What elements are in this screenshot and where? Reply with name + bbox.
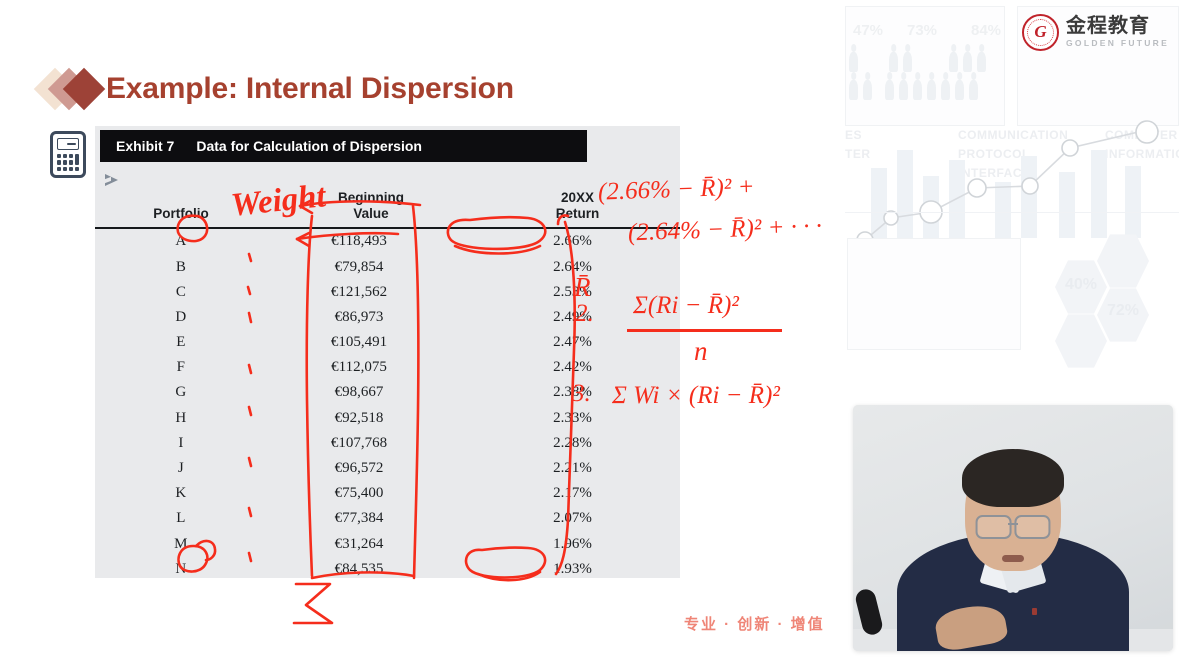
calculator-key xyxy=(57,154,61,158)
cell-beginning-value: €92,518 xyxy=(267,406,475,431)
cell-beginning-value: €77,384 xyxy=(267,506,475,531)
table-row: J€96,5722.21% xyxy=(95,456,680,481)
ink-step2-number: 2. xyxy=(575,300,594,328)
ink-formula-line2: (2.64% − R̄)² + · · · xyxy=(628,213,823,248)
cell-portfolio: M xyxy=(95,531,267,556)
table-header-row: Portfolio Beginning Value 20XX Return xyxy=(95,190,680,225)
table-row: N€84,5351.93% xyxy=(95,557,680,582)
bg-person-icon xyxy=(849,52,858,72)
cell-portfolio: B xyxy=(95,254,267,279)
cell-beginning-value: €112,075 xyxy=(267,355,475,380)
bg-person-icon xyxy=(963,52,972,72)
table-row: H€92,5182.33% xyxy=(95,406,680,431)
table-row: A€118,4932.66% xyxy=(95,228,680,254)
ink-formula-line1: (2.66% − R̄)² + xyxy=(598,173,755,206)
logo-monogram: G xyxy=(1024,16,1057,49)
logo-english-name: GOLDEN FUTURE xyxy=(1066,39,1169,48)
cell-portfolio: F xyxy=(95,355,267,380)
cell-portfolio: I xyxy=(95,431,267,456)
cell-beginning-value: €118,493 xyxy=(267,228,475,254)
video-glasses-bridge xyxy=(1008,523,1018,525)
table-row: K€75,4002.17% xyxy=(95,481,680,506)
column-header-beginning-line2: Value xyxy=(353,206,388,221)
bg-percent-0: 47% xyxy=(853,22,883,39)
calculator-key xyxy=(63,160,67,164)
bg-person-icon xyxy=(863,80,872,100)
video-glasses-right-lens xyxy=(1014,515,1050,539)
footer-slogan: 专业 · 创新 · 增值 xyxy=(684,613,825,634)
cell-beginning-value: €96,572 xyxy=(267,456,475,481)
cell-beginning-value: €31,264 xyxy=(267,531,475,556)
cell-portfolio: A xyxy=(95,228,267,254)
exhibit-caption: Data for Calculation of Dispersion xyxy=(196,138,422,154)
slide-title-row: Example: Internal Dispersion xyxy=(40,68,514,110)
cell-beginning-value: €105,491 xyxy=(267,330,475,355)
calculator-icon xyxy=(50,131,86,178)
table-row: L€77,3842.07% xyxy=(95,506,680,531)
ink-step3-expression: Σ Wi × (Ri − R̄)² xyxy=(612,382,780,410)
calculator-screen xyxy=(57,138,79,150)
cell-portfolio: D xyxy=(95,305,267,330)
ink-step3-number: 3. xyxy=(572,380,591,408)
calculator-key xyxy=(75,154,79,165)
bg-person-icon xyxy=(955,80,964,100)
bg-person-icon xyxy=(899,80,908,100)
bg-person-icon xyxy=(949,52,958,72)
cell-beginning-value: €107,768 xyxy=(267,431,475,456)
table-head: Portfolio Beginning Value 20XX Return xyxy=(95,166,680,228)
bg-person-icon xyxy=(849,80,858,100)
exhibit-number: Exhibit 7 xyxy=(116,138,174,154)
table-row: G€98,6672.38% xyxy=(95,380,680,405)
column-header-return-line2: Return xyxy=(556,206,600,221)
cell-return: 1.96% xyxy=(475,531,680,556)
calculator-key xyxy=(75,167,79,171)
calculator-key xyxy=(63,167,67,171)
cell-portfolio: C xyxy=(95,280,267,305)
cell-beginning-value: €98,667 xyxy=(267,380,475,405)
ink-sigma-bottom xyxy=(294,584,332,623)
bg-hexagon xyxy=(1055,312,1107,370)
bg-person-icon xyxy=(941,80,950,100)
bg-person-icon xyxy=(913,80,922,100)
calculator-key xyxy=(63,154,67,158)
background-infographic: 47% 73% 84% ES TER COMMUNICATION PROTOCO… xyxy=(845,0,1179,410)
logo-chinese-name: 金程教育 xyxy=(1066,16,1169,36)
cell-return: 2.28% xyxy=(475,431,680,456)
bg-person-icon xyxy=(889,52,898,72)
bg-hex-percent-1: 72% xyxy=(1107,302,1139,320)
table-row: E€105,4912.47% xyxy=(95,330,680,355)
exhibit-panel: Exhibit 7 Data for Calculation of Disper… xyxy=(95,126,680,578)
cell-return: 2.42% xyxy=(475,355,680,380)
calculator-key xyxy=(57,167,61,171)
bg-hex-percent-0: 40% xyxy=(1065,276,1097,294)
cell-return: 1.93% xyxy=(475,557,680,582)
exhibit-header-bar: Exhibit 7 Data for Calculation of Disper… xyxy=(100,130,587,162)
table-body: A€118,4932.66%B€79,8542.64%C€121,5622.53… xyxy=(95,228,680,582)
column-header-return-line1: 20XX xyxy=(561,190,594,205)
table-header-spacer xyxy=(95,166,680,190)
cell-portfolio: H xyxy=(95,406,267,431)
calculator-key xyxy=(69,167,73,171)
calculator-key xyxy=(57,160,61,164)
bg-person-icon xyxy=(977,52,986,72)
column-header-portfolio-label: Portfolio xyxy=(153,206,209,221)
cell-return: 2.17% xyxy=(475,481,680,506)
bg-percent-1: 73% xyxy=(907,22,937,39)
table-row: I€107,7682.28% xyxy=(95,431,680,456)
cell-beginning-value: €75,400 xyxy=(267,481,475,506)
cell-portfolio: E xyxy=(95,330,267,355)
presentation-slide: 47% 73% 84% ES TER COMMUNICATION PROTOCO… xyxy=(0,0,1179,663)
calculator-key xyxy=(69,154,73,158)
page-title: Example: Internal Dispersion xyxy=(106,72,514,106)
bg-divider xyxy=(845,212,1179,213)
instructor-video-panel[interactable] xyxy=(853,405,1173,651)
cell-beginning-value: €86,973 xyxy=(267,305,475,330)
cell-portfolio: L xyxy=(95,506,267,531)
table-row: M€31,2641.96% xyxy=(95,531,680,556)
cell-portfolio: K xyxy=(95,481,267,506)
ink-step2-numerator: Σ(Ri − R̄)² xyxy=(633,292,739,320)
brand-logo: G 金程教育 GOLDEN FUTURE xyxy=(1022,12,1172,52)
cell-return: 2.07% xyxy=(475,506,680,531)
cell-beginning-value: €121,562 xyxy=(267,280,475,305)
cell-portfolio: N xyxy=(95,557,267,582)
logo-seal-icon: G xyxy=(1022,14,1059,51)
calculator-keys xyxy=(57,154,79,171)
cell-beginning-value: €84,535 xyxy=(267,557,475,582)
table-row: F€112,0752.42% xyxy=(95,355,680,380)
bg-person-icon xyxy=(969,80,978,100)
calculator-key xyxy=(69,160,73,164)
ink-rbar: R̄ xyxy=(574,272,591,303)
bg-card-bars xyxy=(847,238,1021,350)
video-person-hair xyxy=(962,449,1064,507)
bg-person-icon xyxy=(885,80,894,100)
dispersion-table: Portfolio Beginning Value 20XX Return A€… xyxy=(95,166,680,582)
bg-person-icon xyxy=(903,52,912,72)
ink-fraction-bar xyxy=(627,329,782,332)
cell-beginning-value: €79,854 xyxy=(267,254,475,279)
table-row: B€79,8542.64% xyxy=(95,254,680,279)
diamond-decoration-icon xyxy=(40,68,106,110)
video-person-mouth xyxy=(1002,555,1024,562)
ink-step2-denominator: n xyxy=(694,336,708,367)
cell-return: 2.47% xyxy=(475,330,680,355)
bg-percent-2: 84% xyxy=(971,22,1001,39)
video-glasses-left-lens xyxy=(976,515,1012,539)
cell-portfolio: J xyxy=(95,456,267,481)
cell-return: 2.21% xyxy=(475,456,680,481)
cell-portfolio: G xyxy=(95,380,267,405)
bg-person-icon xyxy=(927,80,936,100)
column-header-beginning-line1: Beginning xyxy=(338,190,404,205)
video-sweater-logo xyxy=(1032,608,1037,615)
